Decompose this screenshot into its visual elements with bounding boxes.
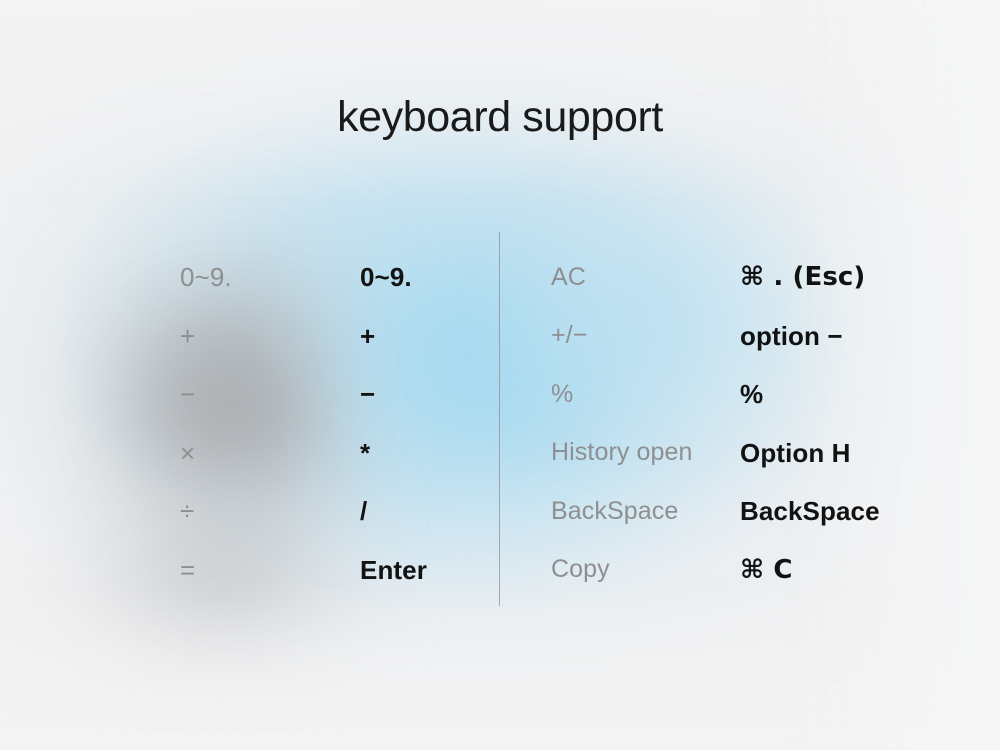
table-row: × (180, 424, 360, 483)
table-row: / (360, 482, 500, 541)
table-row: % (551, 365, 740, 424)
shortcut-table-left: 0~9. + − × ÷ = 0~9. + − * / Enter (180, 248, 500, 599)
table-row: 0~9. (360, 248, 500, 307)
table-row: − (180, 365, 360, 424)
left-shortcut-column: 0~9. + − * / Enter (360, 248, 500, 599)
table-row: = (180, 541, 360, 600)
right-action-column: AC +/− % History open BackSpace Copy (551, 248, 740, 599)
table-row: BackSpace (551, 482, 740, 541)
right-shortcut-column: ⌘ . (Esc) option − % Option H BackSpace … (740, 248, 940, 599)
table-row: Option H (740, 424, 940, 483)
table-row: Enter (360, 541, 500, 600)
page-title: keyboard support (0, 96, 1000, 139)
table-row: * (360, 424, 500, 483)
table-row: − (360, 365, 500, 424)
table-row: + (180, 307, 360, 366)
keyboard-support-screen: keyboard support 0~9. + − × ÷ = 0~9. + −… (0, 0, 1000, 750)
shortcut-table-right: AC +/− % History open BackSpace Copy ⌘ .… (551, 248, 940, 599)
table-row: ⌘ C (740, 541, 940, 600)
table-row: + (360, 307, 500, 366)
left-action-column: 0~9. + − × ÷ = (180, 248, 360, 599)
table-row: % (740, 365, 940, 424)
table-row: +/− (551, 307, 740, 366)
table-row: ⌘ . (Esc) (740, 248, 940, 307)
table-row: 0~9. (180, 248, 360, 307)
table-row: AC (551, 248, 740, 307)
table-row: Copy (551, 541, 740, 600)
table-row: ÷ (180, 482, 360, 541)
table-row: option − (740, 307, 940, 366)
table-row: History open (551, 424, 740, 483)
table-row: BackSpace (740, 482, 940, 541)
